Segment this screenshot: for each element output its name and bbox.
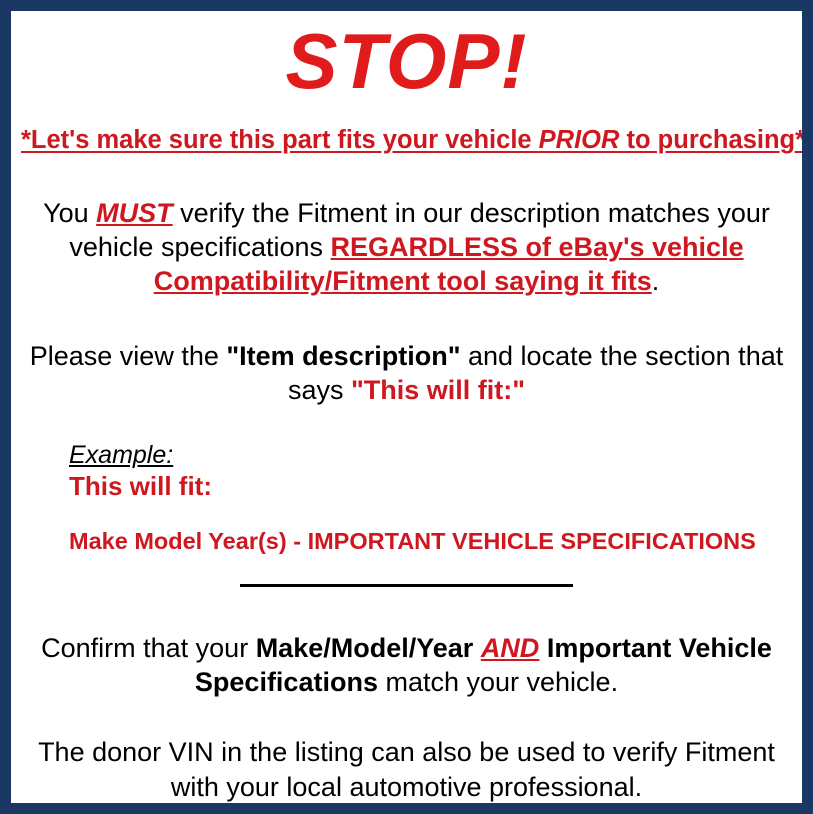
verify-emphasis-must: MUST xyxy=(96,198,173,228)
confirm-emphasis-and: AND xyxy=(481,633,540,663)
verify-seg-1: You xyxy=(43,198,96,228)
view-this-will-fit-red: "This will fit:" xyxy=(351,375,525,405)
example-spec-line: Make Model Year(s) - IMPORTANT VEHICLE S… xyxy=(69,528,792,555)
example-label-row: Example: xyxy=(69,441,792,470)
confirm-seg-3 xyxy=(473,633,481,663)
example-block: Example: This will fit: Make Model Year(… xyxy=(21,441,792,555)
example-this-will-fit: This will fit: xyxy=(69,472,792,502)
stop-heading: STOP! xyxy=(21,11,792,103)
example-label: Example: xyxy=(69,441,173,470)
subhead-before: *Let's make sure this part fits your veh… xyxy=(21,126,539,154)
view-seg-1: Please view the xyxy=(30,341,227,371)
horizontal-divider xyxy=(240,584,573,587)
divider-wrap xyxy=(21,577,792,595)
notice-content: STOP! *Let's make sure this part fits yo… xyxy=(11,11,802,803)
fitment-notice-card: STOP! *Let's make sure this part fits yo… xyxy=(0,0,813,814)
verify-paragraph: You MUST verify the Fitment in our descr… xyxy=(21,196,792,299)
confirm-seg-7: match your vehicle. xyxy=(378,667,618,697)
confirm-seg-5 xyxy=(539,633,547,663)
donor-vin-paragraph: The donor VIN in the listing can also be… xyxy=(21,735,792,804)
verify-seg-5: . xyxy=(652,266,660,296)
confirm-make-model-year-bold: Make/Model/Year xyxy=(256,633,474,663)
confirm-paragraph: Confirm that your Make/Model/Year AND Im… xyxy=(21,631,792,700)
subhead-line: *Let's make sure this part fits your veh… xyxy=(21,125,792,156)
confirm-seg-1: Confirm that your xyxy=(41,633,256,663)
subhead-emphasis-prior: PRIOR xyxy=(539,126,620,154)
view-description-paragraph: Please view the "Item description" and l… xyxy=(21,339,792,408)
subhead-after: to purchasing* xyxy=(619,126,805,154)
view-item-description-bold: "Item description" xyxy=(226,341,460,371)
